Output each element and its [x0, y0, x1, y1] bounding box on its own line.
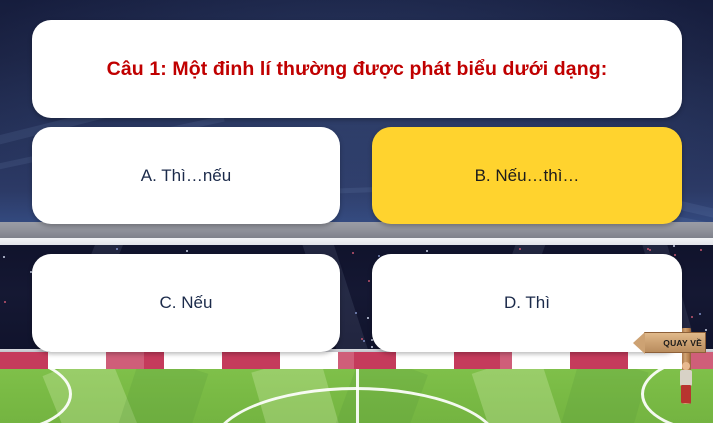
answer-option-c-label: C. Nếu — [160, 293, 213, 313]
crowd-speck — [186, 250, 188, 252]
crowd-speck — [352, 252, 354, 254]
figure-head — [682, 362, 690, 370]
crowd-speck — [674, 254, 676, 256]
crowd-speck — [371, 346, 373, 348]
barrier-shine — [300, 352, 354, 369]
pitch-light-beam — [554, 369, 649, 423]
crowd-speck — [4, 301, 6, 303]
crowd-speck — [3, 256, 5, 258]
slide-canvas: Câu 1: Một đinh lí thường được phát biểu… — [0, 0, 713, 423]
question-text: Câu 1: Một đinh lí thường được phát biểu… — [107, 54, 608, 84]
referee-figure-icon — [678, 362, 694, 404]
barrier-shine — [500, 352, 554, 369]
pitch-light-beam — [472, 369, 569, 423]
figure-body — [680, 370, 692, 386]
crowd-speck — [673, 245, 675, 247]
back-signpost-button[interactable]: QUAY VỀ — [644, 318, 710, 404]
crowd-speck — [699, 313, 701, 315]
crowd-speck — [519, 248, 521, 250]
crowd-speck — [700, 249, 702, 251]
answer-option-b-label: B. Nếu…thì… — [475, 166, 580, 186]
stadium-roof-highlight — [0, 238, 713, 245]
stadium-roof-band — [0, 222, 713, 238]
answer-option-a[interactable]: A. Thì…nếu — [32, 127, 340, 224]
back-button-label: QUAY VỀ — [663, 338, 702, 348]
crowd-speck — [116, 248, 118, 250]
crowd-speck — [426, 250, 428, 252]
crowd-speck — [361, 338, 363, 340]
crowd-speck — [368, 280, 370, 282]
barrier-block — [570, 352, 628, 369]
barrier-shine — [90, 352, 144, 369]
answer-option-a-label: A. Thì…nếu — [141, 166, 231, 186]
barrier-block — [222, 352, 280, 369]
figure-legs — [681, 385, 691, 403]
answer-option-c[interactable]: C. Nếu — [32, 254, 340, 352]
pitch-center-circle — [211, 387, 501, 423]
barrier-block — [0, 352, 48, 369]
pitch-barrier — [0, 352, 713, 369]
crowd-speck — [355, 312, 357, 314]
question-card: Câu 1: Một đinh lí thường được phát biểu… — [32, 20, 682, 118]
signpost-arrow-icon[interactable]: QUAY VỀ — [644, 332, 706, 353]
soccer-pitch — [0, 369, 713, 423]
crowd-speck — [367, 317, 369, 319]
answer-option-b[interactable]: B. Nếu…thì… — [372, 127, 682, 224]
answer-option-d-label: D. Thì — [504, 293, 550, 313]
